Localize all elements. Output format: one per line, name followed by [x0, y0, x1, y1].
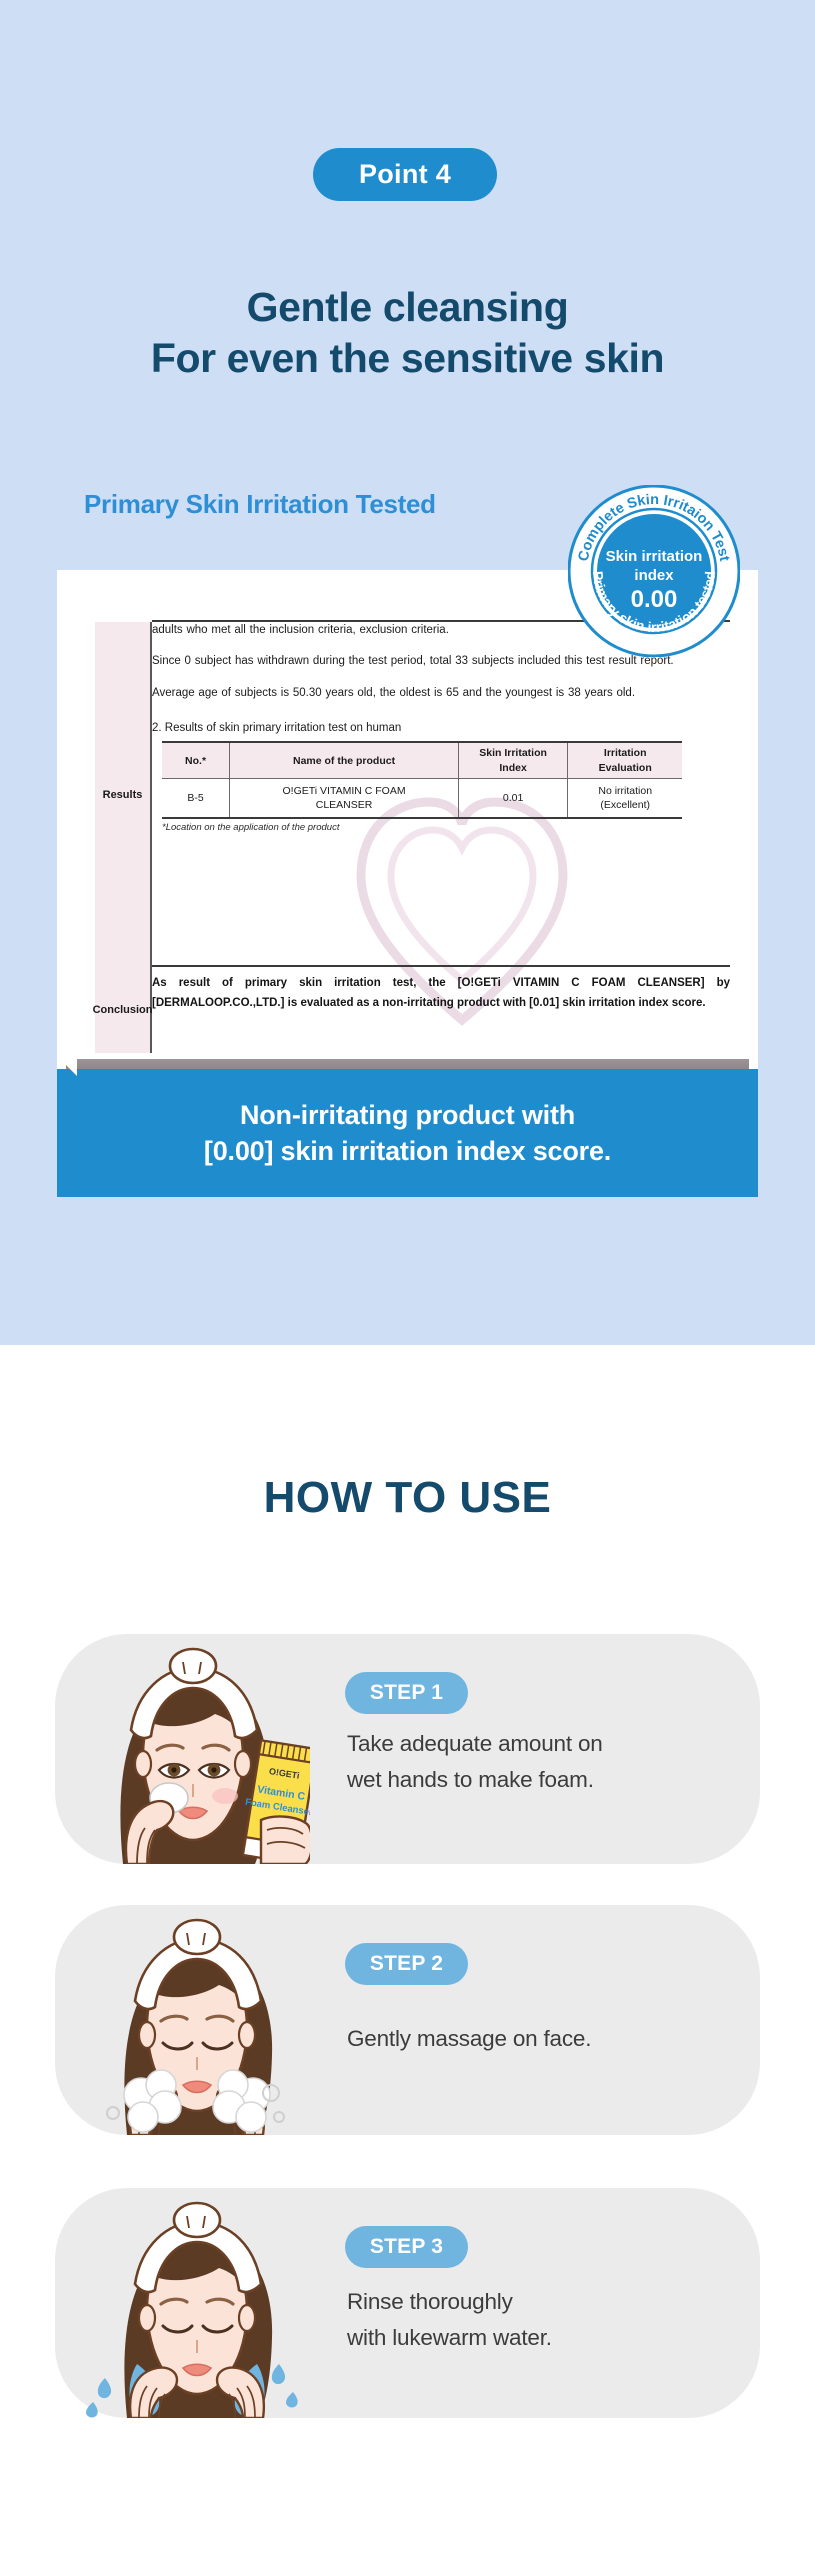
table-row: B-5 O!GETi VITAMIN C FOAM CLEANSER 0.01 …	[162, 778, 682, 818]
cell-no: B-5	[162, 778, 230, 818]
column-header-product: Name of the product	[230, 742, 459, 778]
table-header-row: No.* Name of the product Skin Irritation…	[162, 742, 682, 778]
step-3-text-line1: Rinse thoroughly	[347, 2284, 742, 2320]
results-row-label: Results	[95, 622, 152, 967]
column-header-no: No.*	[162, 742, 230, 778]
step-1-badge: STEP 1	[345, 1672, 468, 1714]
report-paragraph: Average age of subjects is 50.30 years o…	[152, 685, 730, 701]
step-1-badge-label: STEP 1	[370, 1681, 443, 1705]
results-table-caption: 2. Results of skin primary irritation te…	[152, 723, 730, 735]
cell-eval-line2: (Excellent)	[600, 799, 650, 811]
conclusion-content: As result of primary skin irritation tes…	[152, 973, 730, 1013]
column-header-index-line1: Skin Irritation	[479, 747, 547, 759]
column-header-index: Skin Irritation Index	[458, 742, 567, 778]
subheading: Primary Skin Irritation Tested	[84, 489, 436, 520]
column-header-evaluation: Irritation Evaluation	[568, 742, 682, 778]
step-2-illustration	[65, 1905, 310, 2135]
step-2-badge: STEP 2	[345, 1943, 468, 1985]
cell-index: 0.01	[458, 778, 567, 818]
point-badge-label: Point 4	[359, 159, 451, 190]
step-card-3: STEP 3 Rinse thoroughly with lukewarm wa…	[55, 2188, 760, 2418]
step-1-text: Take adequate amount on wet hands to mak…	[347, 1726, 742, 1797]
stamp-center-line1: Skin irritation	[606, 548, 703, 565]
step-1-text-line1: Take adequate amount on	[347, 1726, 742, 1762]
headline-line-2: For even the sensitive skin	[0, 333, 815, 384]
results-table: No.* Name of the product Skin Irritation…	[162, 741, 682, 819]
stamp-center-line2: index	[634, 567, 674, 584]
step-1-illustration: O!GETi Vitamin C Foam Cleanser	[65, 1634, 310, 1864]
result-banner: Non-irritating product with [0.00] skin …	[57, 1069, 758, 1197]
result-banner-line2: [0.00] skin irritation index score.	[204, 1133, 611, 1169]
step-2-text: Gently massage on face.	[347, 2021, 742, 2057]
page-title: Gentle cleansing For even the sensitive …	[0, 282, 815, 384]
column-header-eval-line1: Irritation	[604, 747, 647, 759]
headline-line-1: Gentle cleansing	[247, 284, 569, 330]
column-header-eval-line2: Evaluation	[599, 762, 652, 774]
step-2-text-line1: Gently massage on face.	[347, 2021, 742, 2057]
step-3-text: Rinse thoroughly with lukewarm water.	[347, 2284, 742, 2355]
step-3-illustration	[65, 2188, 310, 2418]
doc-rule-mid	[152, 965, 730, 967]
skin-irritation-stamp-icon: Complete Skin Irritaion Test Primary ski…	[568, 485, 740, 657]
step-3-text-line2: with lukewarm water.	[347, 2320, 742, 2356]
step-card-2: STEP 2 Gently massage on face.	[55, 1905, 760, 2135]
cell-product-line1: O!GETi VITAMIN C FOAM	[283, 785, 406, 797]
cell-evaluation: No irritation (Excellent)	[568, 778, 682, 818]
how-to-use-title: HOW TO USE	[0, 1473, 815, 1523]
conclusion-row-label: Conclusion	[95, 967, 152, 1053]
stamp-center-value: 0.00	[631, 586, 678, 613]
cell-eval-line1: No irritation	[598, 785, 652, 797]
step-1-text-line2: wet hands to make foam.	[347, 1762, 742, 1798]
cell-product: O!GETi VITAMIN C FOAM CLEANSER	[230, 778, 459, 818]
table-footnote: *Location on the application of the prod…	[162, 823, 730, 833]
result-banner-line1: Non-irritating product with	[240, 1097, 575, 1133]
banner-fold-corner	[57, 1056, 77, 1076]
step-3-badge-label: STEP 3	[370, 2235, 443, 2259]
point-badge: Point 4	[313, 148, 497, 201]
column-header-index-line2: Index	[499, 762, 526, 774]
cell-product-line2: CLEANSER	[316, 799, 373, 811]
step-2-badge-label: STEP 2	[370, 1952, 443, 1976]
step-card-1: O!GETi Vitamin C Foam Cleanser STEP 1 Ta…	[55, 1634, 760, 1864]
step-3-badge: STEP 3	[345, 2226, 468, 2268]
